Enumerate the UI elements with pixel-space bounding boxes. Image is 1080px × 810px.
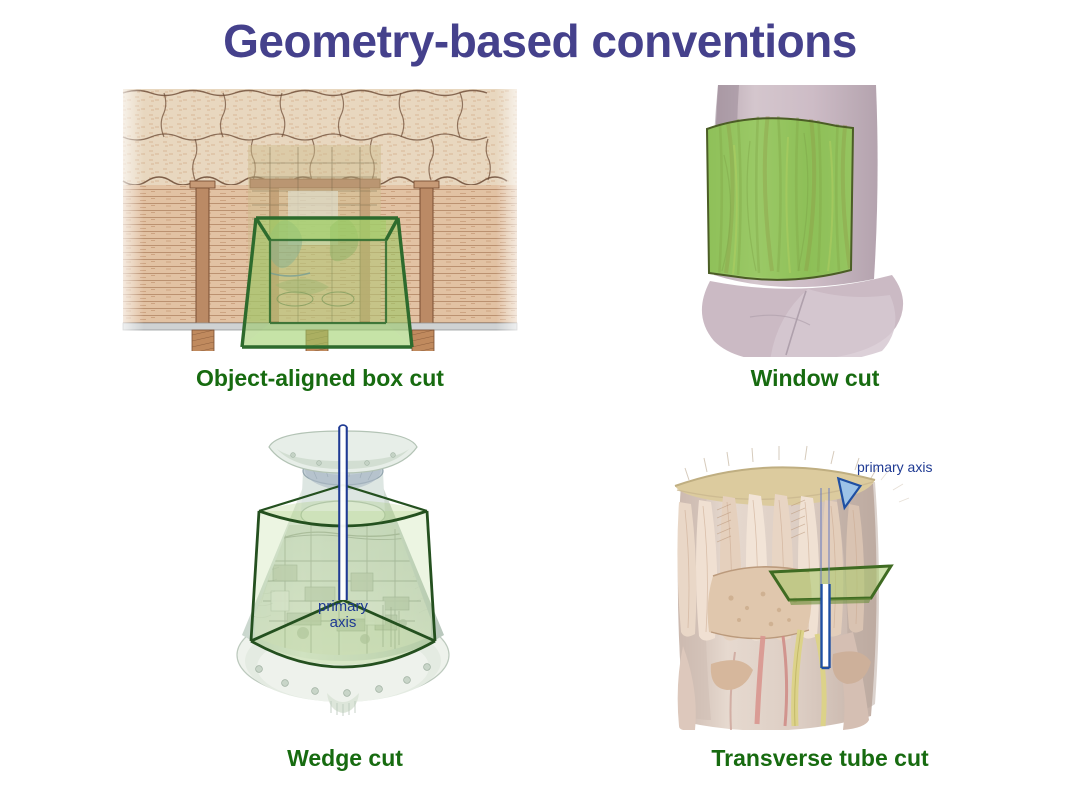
caption-transverse-tube-cut: Transverse tube cut: [620, 745, 1020, 772]
page-title: Geometry-based conventions: [0, 14, 1080, 68]
wedge-primary-axis-label-line2: axis: [330, 614, 357, 631]
object-aligned-box-cut-illustration: [120, 85, 520, 355]
transverse-tube-cut-illustration: primary axis: [655, 440, 935, 730]
window-cut-illustration: [690, 85, 935, 357]
window-cut-overlay: [707, 111, 866, 280]
caption-object-aligned-box-cut: Object-aligned box cut: [60, 365, 580, 392]
wedge-primary-axis-label-line1: primary: [318, 598, 369, 615]
wedge-cut-illustration: primary axis: [215, 415, 470, 725]
caption-wedge-cut: Wedge cut: [150, 745, 540, 772]
figure-object-aligned-box-cut: [120, 85, 520, 355]
tube-primary-axis-label: primary axis: [857, 459, 932, 475]
caption-window-cut: Window cut: [650, 365, 980, 392]
figure-transverse-tube-cut: primary axis: [655, 440, 935, 730]
figure-wedge-cut: primary axis: [215, 415, 470, 725]
figure-window-cut: [690, 85, 935, 357]
